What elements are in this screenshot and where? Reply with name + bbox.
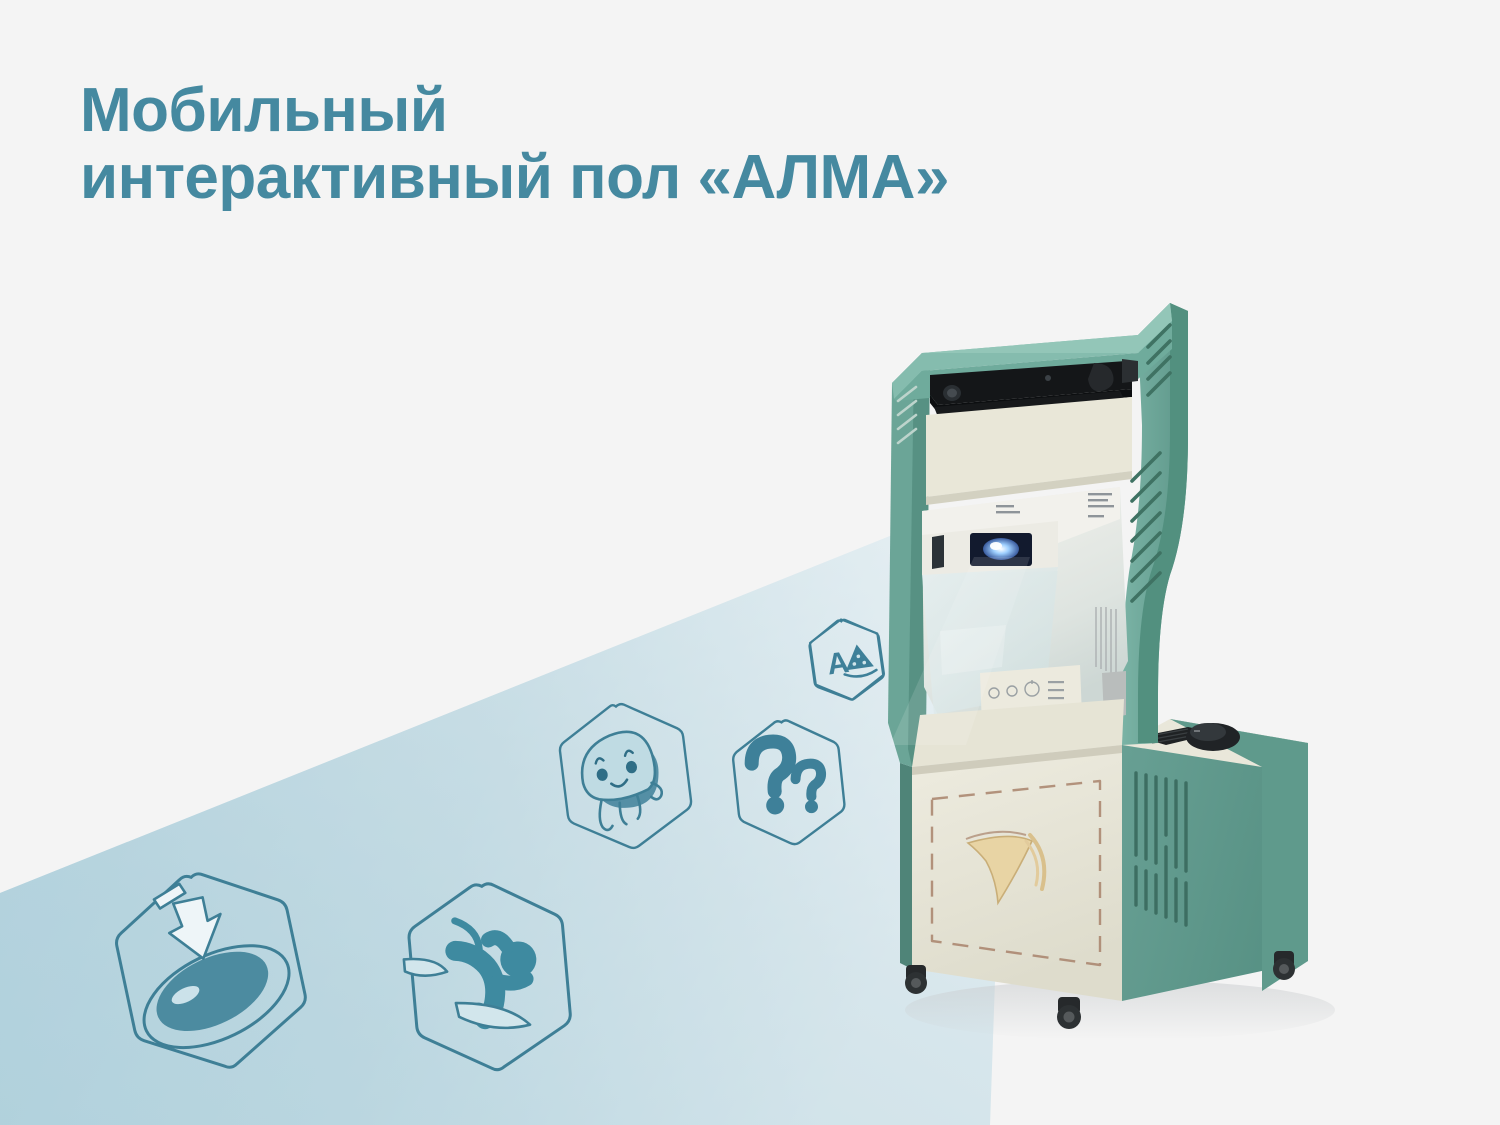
icon-arrow-onto-target	[88, 855, 338, 1105]
icon-jellyfish-character	[535, 690, 715, 870]
slide-canvas: Мобильный интерактивный пол «АЛМА» A	[0, 0, 1500, 1125]
caster-front-center	[1057, 997, 1081, 1029]
mouse[interactable]	[1186, 723, 1240, 751]
icon-question-marks	[712, 708, 864, 860]
caster-rear-right	[1273, 951, 1295, 980]
cabinet-front-panel	[912, 745, 1122, 1001]
caster-front-left	[905, 965, 927, 994]
icon-running-person	[380, 870, 600, 1090]
alma-kiosk	[870, 275, 1390, 1075]
